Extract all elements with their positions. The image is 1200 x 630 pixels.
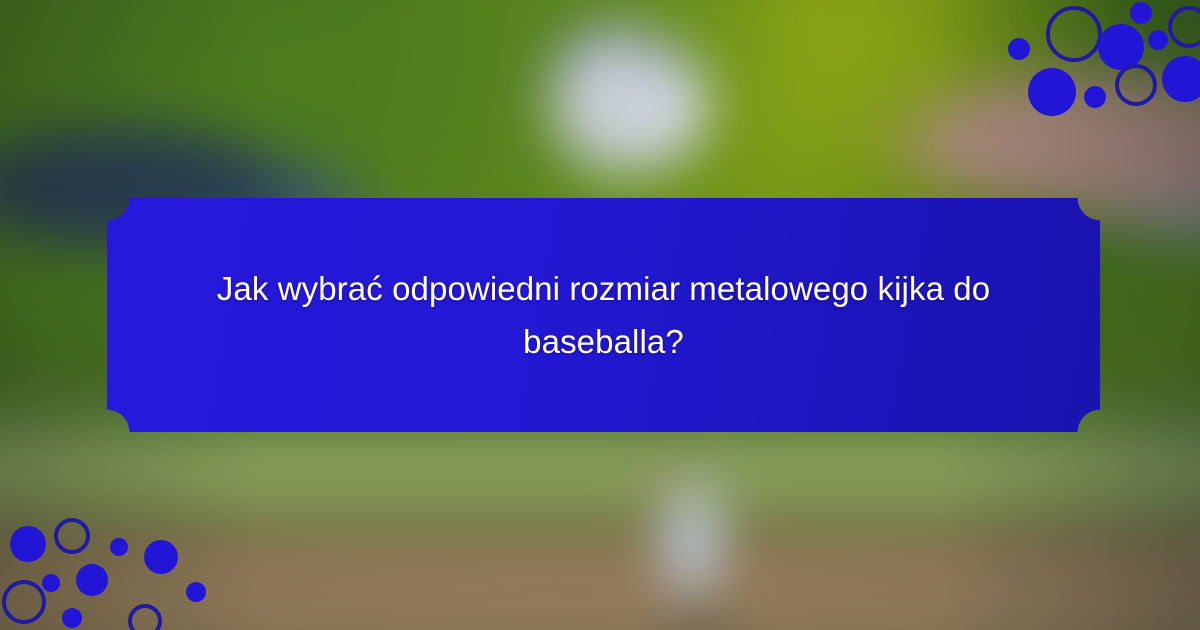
decorative-dots-bottom-left xyxy=(0,512,216,630)
decorative-circle xyxy=(42,574,60,592)
decorative-circle xyxy=(1008,38,1030,60)
decorative-circle xyxy=(54,518,90,554)
decorative-circle xyxy=(144,540,178,574)
decorative-circle xyxy=(1162,56,1200,102)
decorative-circle xyxy=(10,526,46,562)
decorative-circle xyxy=(1084,86,1106,108)
decorative-circle xyxy=(2,580,46,624)
decorative-circle xyxy=(76,564,108,596)
decorative-circle xyxy=(1130,2,1152,24)
decorative-circle xyxy=(110,538,128,556)
decorative-circle xyxy=(1046,6,1102,62)
decorative-circle xyxy=(1168,6,1200,48)
decorative-circle xyxy=(128,604,162,630)
decorative-dots-top-right xyxy=(990,0,1200,112)
decorative-circle xyxy=(62,608,82,628)
title-banner: Jak wybrać odpowiedni rozmiar metalowego… xyxy=(107,198,1100,432)
page-title: Jak wybrać odpowiedni rozmiar metalowego… xyxy=(204,262,1004,369)
decorative-circle xyxy=(186,582,206,602)
decorative-circle xyxy=(1028,68,1076,116)
decorative-circle xyxy=(1115,64,1157,106)
decorative-circle xyxy=(1148,30,1168,50)
